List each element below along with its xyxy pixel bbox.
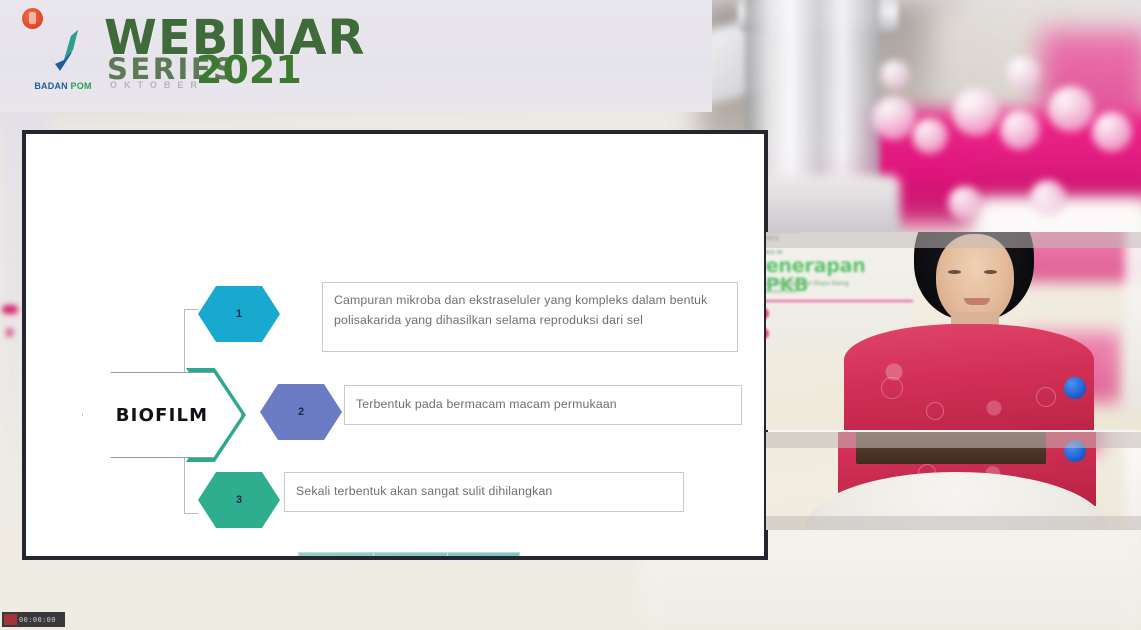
bpom-logo-label: BADAN POM — [20, 81, 106, 91]
biofilm-formation-stages-image: attachment growth dispersal — [298, 552, 520, 556]
speaker-batik-motif — [926, 402, 944, 420]
background-bokeh-cap — [1092, 112, 1132, 152]
step-hexagon-3-number: 3 — [236, 494, 242, 506]
background-bokeh-cap — [912, 118, 948, 154]
background-bokeh-cap — [948, 186, 982, 220]
header-year: 2021 — [196, 48, 302, 92]
step-hexagon-1-number: 1 — [236, 308, 242, 320]
speaker-mouth — [964, 298, 990, 305]
background-bokeh-cap — [1030, 180, 1066, 216]
video-bg-white-column — [1125, 232, 1141, 412]
step-callout-1: Campuran mikroba dan ekstraseluler yang … — [322, 282, 738, 352]
speaker-secondary-video[interactable] — [766, 432, 1141, 530]
biofilm-node: BIOFILM — [82, 372, 242, 458]
background-bokeh-cap — [880, 60, 910, 90]
video-bg-divider — [766, 300, 913, 302]
speaker-eye-right — [984, 270, 997, 274]
recorder-timecode: 00:00:00 — [19, 616, 56, 624]
step-callout-3: Sekali terbentuk akan sangat sulit dihil… — [284, 472, 684, 512]
background-pink-speck — [6, 328, 13, 337]
background-bokeh-cap — [952, 88, 1000, 136]
speaker-batik-motif — [1036, 387, 1056, 407]
video-bg-date: 28 Oktober 2021 — [766, 288, 909, 296]
step-callout-3-text: Sekali terbentuk akan sangat sulit dihil… — [296, 482, 552, 502]
recorder-control-bar[interactable]: 00:00:00 — [2, 612, 65, 627]
background-pink-speck — [2, 305, 18, 314]
video-bottom-scrim — [766, 516, 1141, 530]
step-callout-1-text: Campuran mikroba dan ekstraseluler yang … — [334, 293, 707, 327]
speaker-eye-left — [948, 270, 961, 274]
webinar-screen: BADAN POM WEBINAR SERIES 2021 OKTOBER BI… — [0, 0, 1141, 630]
webinar-header-banner: BADAN POM WEBINAR SERIES 2021 OKTOBER — [0, 0, 712, 112]
video-bg-badge-icon — [766, 308, 769, 319]
background-bokeh-cap — [1048, 86, 1094, 132]
background-bokeh-cap — [1000, 110, 1040, 150]
step-callout-2-text: Terbentuk pada bermacam macam permukaan — [356, 395, 617, 415]
video-top-scrim — [766, 432, 1141, 448]
image-panel-divider — [373, 553, 374, 556]
record-stop-icon[interactable] — [4, 614, 17, 625]
image-panel-divider — [447, 553, 448, 556]
step-hexagon-2-number: 2 — [298, 406, 304, 418]
video-bg-badge-icon — [766, 328, 769, 339]
bpom-logo-label-badan: BADAN — [34, 81, 68, 91]
biofilm-node-label: BIOFILM — [116, 405, 209, 426]
slide-canvas: BIOFILM 1 Campuran mikroba dan ekstrasel… — [26, 134, 764, 556]
speaker-main-video[interactable]: WEBINAR 2021 SERIES 06 Penerapan CPKB un… — [766, 232, 1141, 430]
bpom-checkmark-logo: BADAN POM — [20, 22, 106, 94]
step-callout-2: Terbentuk pada bermacam macam permukaan — [344, 385, 742, 425]
participant-badge-icon — [1064, 377, 1086, 399]
presentation-slide[interactable]: BIOFILM 1 Campuran mikroba dan ekstrasel… — [22, 130, 768, 560]
background-bokeh-cap — [1006, 56, 1040, 90]
video-virtual-background: WEBINAR 2021 SERIES 06 Penerapan CPKB un… — [766, 232, 1141, 430]
speaker-batik-motif — [881, 377, 903, 399]
header-month: OKTOBER — [110, 80, 204, 90]
speaker-batik-garment — [844, 324, 1094, 430]
background-bokeh-cap — [872, 96, 916, 140]
bpom-logo-label-pom: POM — [71, 81, 92, 91]
video-top-scrim — [766, 232, 1141, 248]
